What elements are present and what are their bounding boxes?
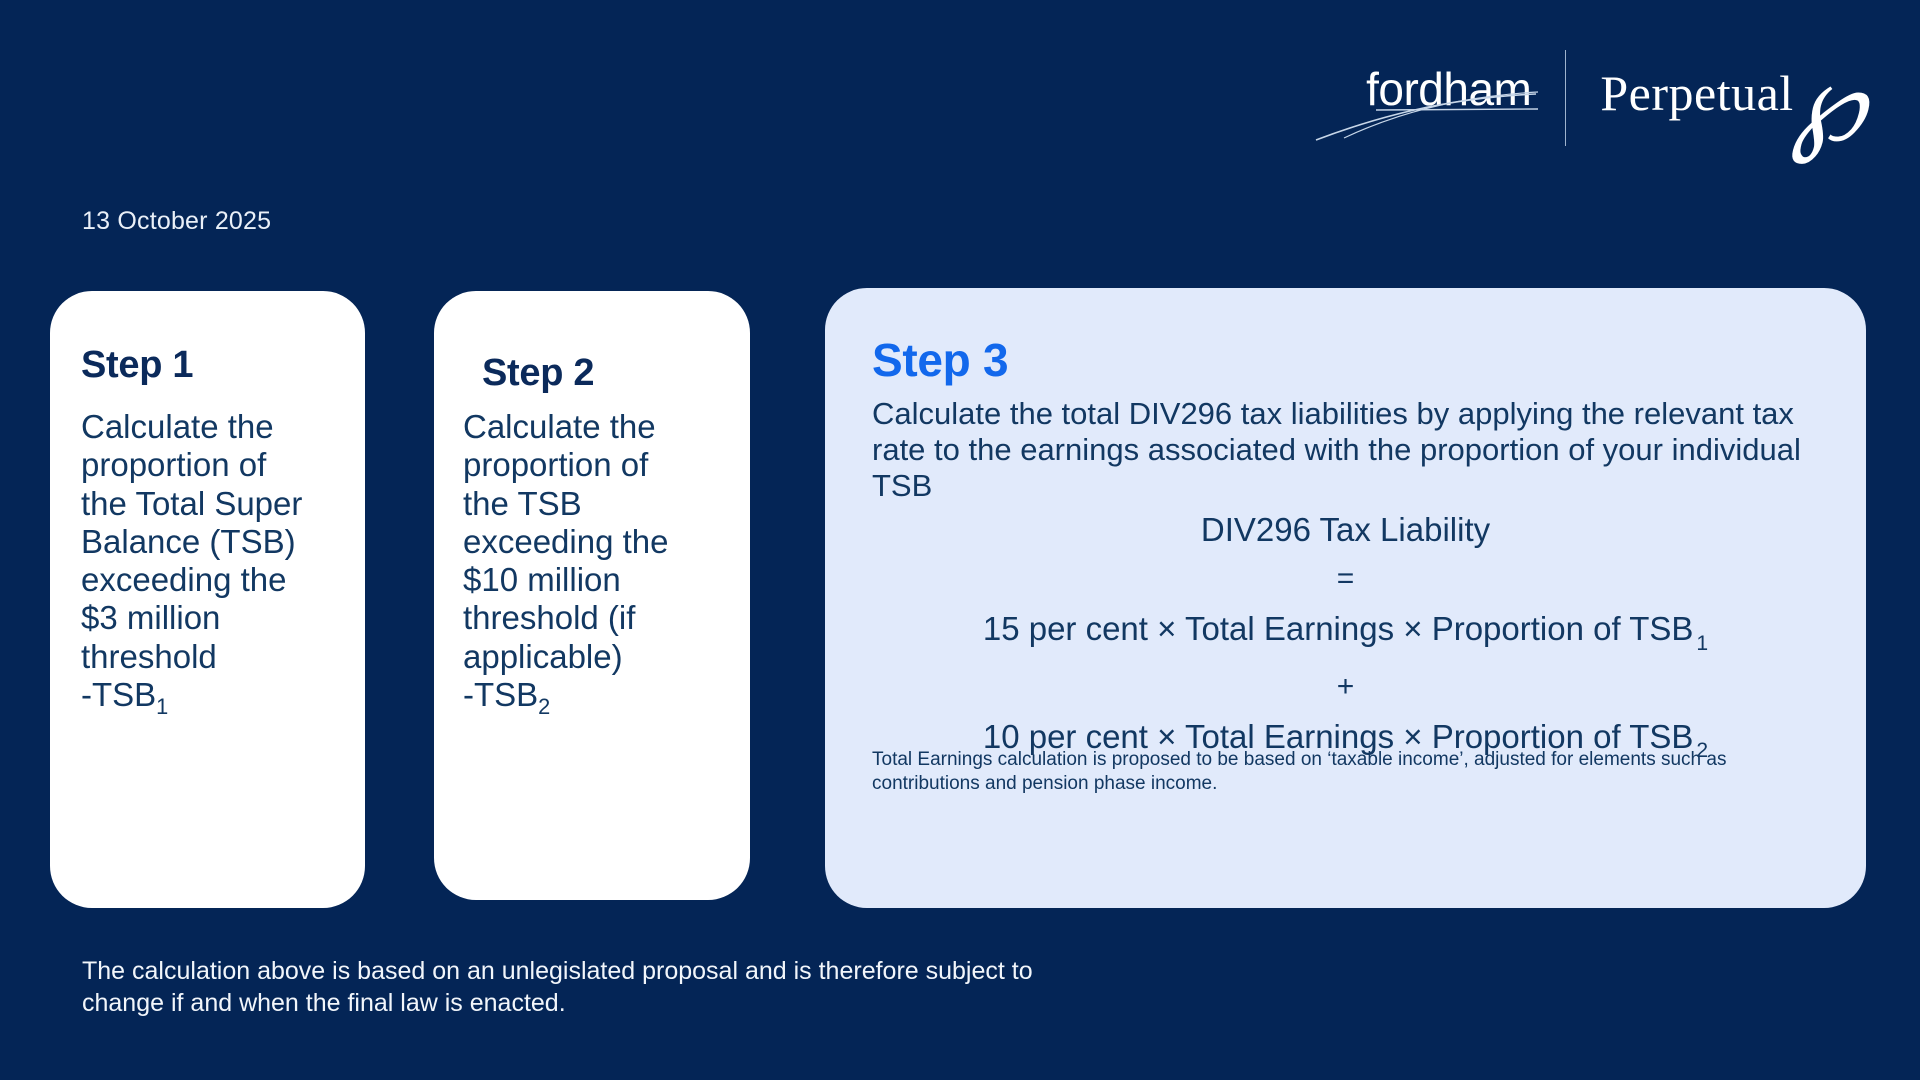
formula-term-1: 15 per cent × Total Earnings × Proportio… xyxy=(872,612,1819,654)
formula-heading: DIV296 Tax Liability xyxy=(872,513,1819,546)
step-1-line-6: threshold xyxy=(81,638,217,675)
formula-term-1-subscript: 1 xyxy=(1696,632,1708,655)
step-card-3: Step 3 Calculate the total DIV296 tax li… xyxy=(825,288,1866,908)
step-1-line-5: $3 million xyxy=(81,599,220,636)
step-1-title: Step 1 xyxy=(81,344,193,387)
step-2-line-0: Calculate the xyxy=(463,408,656,445)
step-1-result-subscript: 1 xyxy=(156,694,168,719)
step-1-line-4: exceeding the xyxy=(81,561,287,598)
step-2-line-6: applicable) xyxy=(463,638,623,675)
step-1-body: Calculate the proportion of the Total Su… xyxy=(81,408,351,719)
step-2-result-subscript: 2 xyxy=(538,694,550,719)
step-2-result: -TSB xyxy=(463,676,538,713)
step-3-title: Step 3 xyxy=(872,333,1008,387)
step-card-1: Step 1 Calculate the proportion of the T… xyxy=(50,291,365,908)
step-3-footnote: Total Earnings calculation is proposed t… xyxy=(872,748,1812,797)
step-3-body: Calculate the total DIV296 tax liabiliti… xyxy=(872,396,1812,504)
step-2-line-2: the TSB xyxy=(463,485,582,522)
formula-equals-sign: = xyxy=(872,564,1819,594)
div296-formula: DIV296 Tax Liability = 15 per cent × Tot… xyxy=(872,513,1819,779)
formula-term-1-text: 15 per cent × Total Earnings × Proportio… xyxy=(983,610,1694,647)
brand-logo-bar: fordham Perpetual ℘ xyxy=(1314,48,1865,148)
step-2-line-5: threshold (if xyxy=(463,599,635,636)
perpetual-logo: Perpetual ℘ xyxy=(1600,52,1865,144)
step-1-line-2: the Total Super xyxy=(81,485,302,522)
fordham-swoosh-icon xyxy=(1314,52,1539,144)
perpetual-flourish-icon: ℘ xyxy=(1790,66,1865,144)
step-card-2: Step 2 Calculate the proportion of the T… xyxy=(434,291,750,900)
step-2-body: Calculate the proportion of the TSB exce… xyxy=(463,408,735,719)
step-2-line-1: proportion of xyxy=(463,446,648,483)
formula-plus-sign: + xyxy=(872,672,1819,702)
step-2-line-4: $10 million xyxy=(463,561,621,598)
step-1-result: -TSB xyxy=(81,676,156,713)
logo-divider xyxy=(1565,50,1566,146)
step-2-title: Step 2 xyxy=(482,352,594,395)
step-1-line-1: proportion of xyxy=(81,446,266,483)
fordham-logo: fordham xyxy=(1314,52,1539,144)
step-2-line-3: exceeding the xyxy=(463,523,669,560)
slide-disclaimer: The calculation above is based on an unl… xyxy=(82,955,1042,1019)
step-1-line-3: Balance (TSB) xyxy=(81,523,296,560)
slide-date: 13 October 2025 xyxy=(82,207,271,236)
step-1-line-0: Calculate the xyxy=(81,408,274,445)
slide-canvas: fordham Perpetual ℘ 13 October 2025 Step… xyxy=(0,0,1920,1080)
perpetual-wordmark: Perpetual xyxy=(1600,52,1793,118)
